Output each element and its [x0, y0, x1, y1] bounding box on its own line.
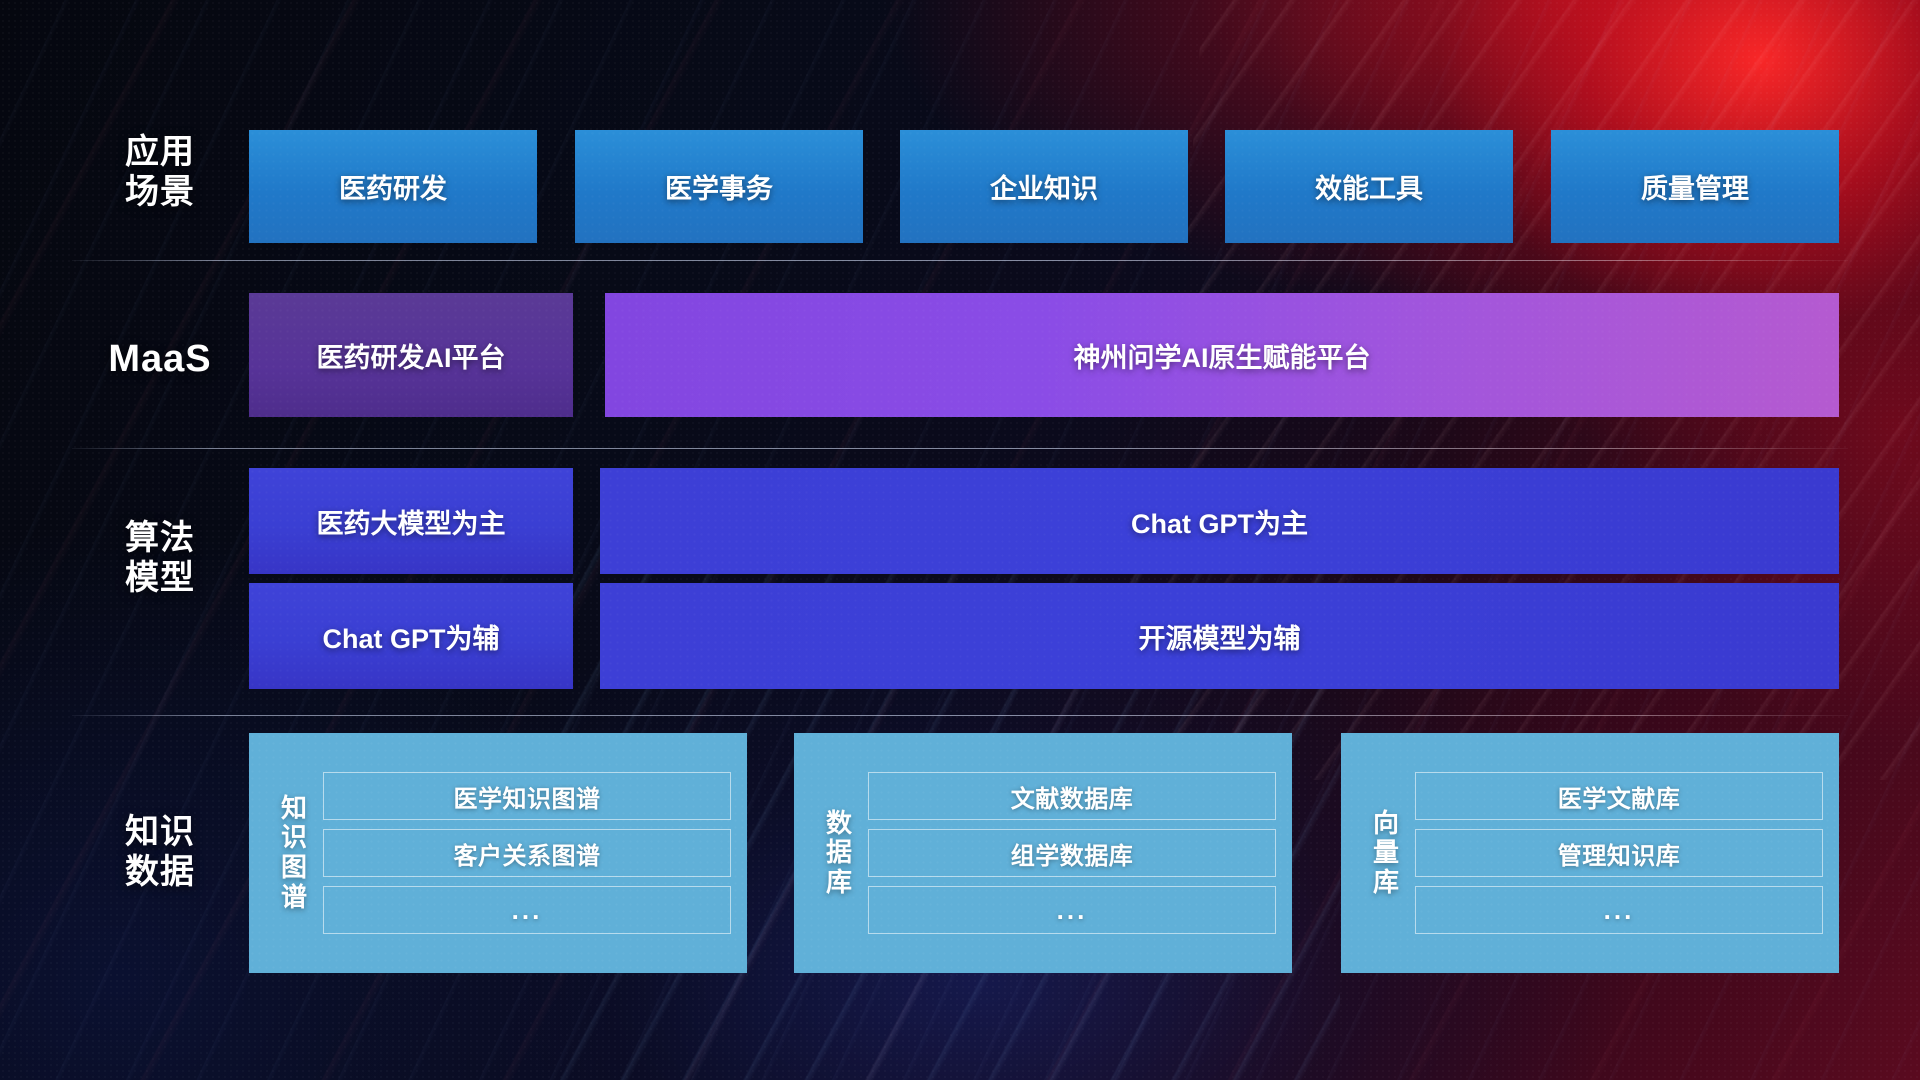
app-box-3[interactable]: 企业知识: [900, 130, 1188, 243]
app-box-4[interactable]: 效能工具: [1225, 130, 1513, 243]
architecture-diagram: 应用 场景 医药研发 医学事务 企业知识 效能工具 质量管理 MaaS 医药研发…: [0, 0, 1920, 1080]
knowledge-item-3-2[interactable]: 管理知识库: [1415, 829, 1823, 877]
algo-left-box-2[interactable]: Chat GPT为辅: [249, 583, 573, 689]
row-label-knowledge-data-line2: 数据: [80, 852, 240, 892]
algo-wide-box-1[interactable]: Chat GPT为主: [600, 468, 1839, 574]
row-label-maas: MaaS: [80, 337, 240, 382]
knowledge-item-3-1[interactable]: 医学文献库: [1415, 772, 1823, 820]
knowledge-item-1-2[interactable]: 客户关系图谱: [323, 829, 731, 877]
algo-left-box-1[interactable]: 医药大模型为主: [249, 468, 573, 574]
app-box-2[interactable]: 医学事务: [575, 130, 863, 243]
row-label-knowledge-data: 知识 数据: [80, 812, 240, 892]
app-box-5[interactable]: 质量管理: [1551, 130, 1839, 243]
knowledge-group-title-2: 数据库: [810, 809, 868, 898]
knowledge-item-2-1[interactable]: 文献数据库: [868, 772, 1276, 820]
row-label-application-scenario: 应用 场景: [80, 132, 240, 212]
knowledge-group-knowledge-graph[interactable]: 知识图谱 医学知识图谱 客户关系图谱 ...: [249, 733, 747, 973]
divider-2: [72, 448, 1848, 449]
knowledge-group-items-1: 医学知识图谱 客户关系图谱 ...: [323, 772, 731, 934]
knowledge-item-2-2[interactable]: 组学数据库: [868, 829, 1276, 877]
knowledge-group-items-2: 文献数据库 组学数据库 ...: [868, 772, 1276, 934]
knowledge-group-vector-store[interactable]: 向量库 医学文献库 管理知识库 ...: [1341, 733, 1839, 973]
row-label-algorithm-model-line1: 算法: [80, 518, 240, 558]
knowledge-group-title-1: 知识图谱: [265, 794, 323, 913]
knowledge-item-3-3[interactable]: ...: [1415, 886, 1823, 934]
maas-platform-box[interactable]: 医药研发AI平台: [249, 293, 573, 417]
row-label-algorithm-model: 算法 模型: [80, 518, 240, 598]
row-label-maas-text: MaaS: [80, 337, 240, 382]
algo-wide-box-2[interactable]: 开源模型为辅: [600, 583, 1839, 689]
knowledge-group-database[interactable]: 数据库 文献数据库 组学数据库 ...: [794, 733, 1292, 973]
row-label-application-scenario-line1: 应用: [80, 132, 240, 172]
row-label-knowledge-data-line1: 知识: [80, 812, 240, 852]
row-label-algorithm-model-line2: 模型: [80, 558, 240, 598]
row-label-application-scenario-line2: 场景: [80, 172, 240, 212]
divider-3: [72, 715, 1848, 716]
slide-canvas: 应用 场景 医药研发 医学事务 企业知识 效能工具 质量管理 MaaS 医药研发…: [0, 0, 1920, 1080]
knowledge-item-1-1[interactable]: 医学知识图谱: [323, 772, 731, 820]
app-box-1[interactable]: 医药研发: [249, 130, 537, 243]
knowledge-group-items-3: 医学文献库 管理知识库 ...: [1415, 772, 1823, 934]
knowledge-group-title-3: 向量库: [1357, 809, 1415, 898]
divider-1: [72, 260, 1848, 261]
maas-enablement-platform-box[interactable]: 神州问学AI原生赋能平台: [605, 293, 1839, 417]
knowledge-item-2-3[interactable]: ...: [868, 886, 1276, 934]
knowledge-item-1-3[interactable]: ...: [323, 886, 731, 934]
